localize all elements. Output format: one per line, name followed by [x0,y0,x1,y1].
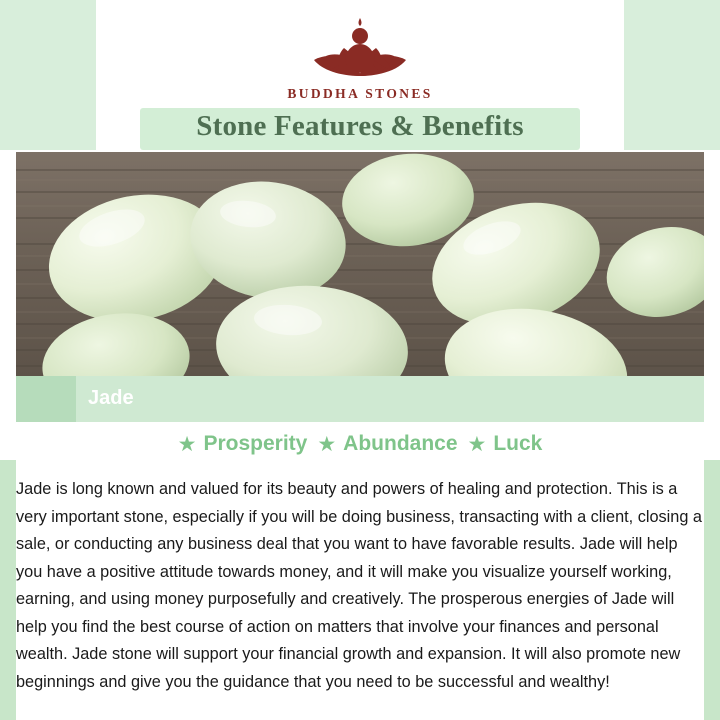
keyword-item-luck: ★ Luck [468,432,543,456]
stone-name-bar-accent [16,376,76,422]
stone-name-bar: Jade [16,376,704,422]
star-icon: ★ [468,434,487,455]
keyword-item-prosperity: ★ Prosperity [178,432,308,456]
corner-decor-bottom-right [704,460,720,720]
star-icon: ★ [317,434,336,455]
keyword-label: Abundance [343,432,457,456]
keyword-row: ★ Prosperity ★ Abundance ★ Luck [0,432,720,456]
photo-illustration [16,152,704,376]
keyword-label: Prosperity [203,432,307,456]
stone-name: Jade [88,387,134,410]
jade-stones-photo [16,152,704,376]
page-title: Stone Features & Benefits [0,110,720,143]
brand-name: BUDDHA STONES [0,86,720,102]
keyword-item-abundance: ★ Abundance [317,432,457,456]
infographic-page: BUDDHA STONES Stone Features & Benefits [0,0,720,720]
lotus-buddha-icon [300,14,420,82]
brand-logo-block: BUDDHA STONES [0,14,720,102]
stone-description: Jade is long known and valued for its be… [16,476,706,696]
keyword-label: Luck [493,432,542,456]
star-icon: ★ [178,434,197,455]
corner-decor-bottom-left [0,460,16,720]
